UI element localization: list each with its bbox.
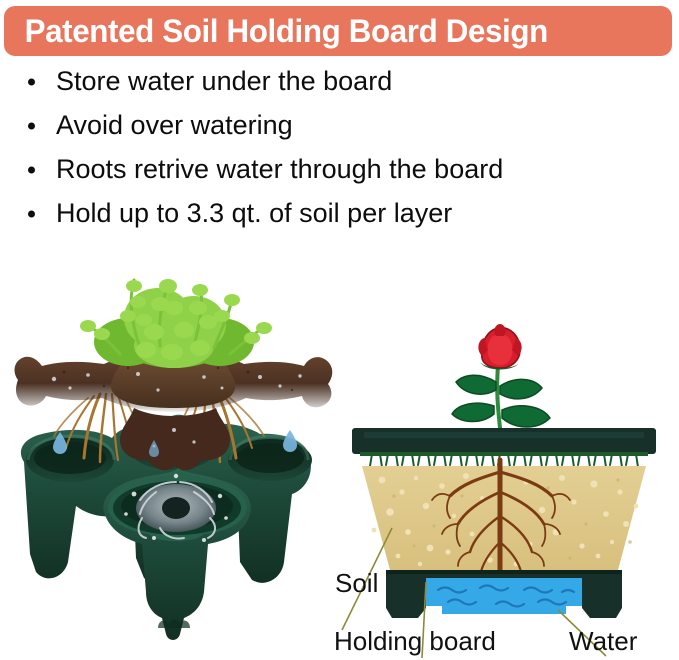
label-water: Water [569, 628, 637, 654]
illustration-row [0, 262, 679, 660]
bullet-dot-icon [28, 78, 35, 85]
infographic-page: Patented Soil Holding Board Design Store… [0, 0, 679, 660]
page-title: Patented Soil Holding Board Design [4, 15, 548, 47]
cross-section-diagram [330, 320, 679, 660]
bullet-dot-icon [28, 210, 35, 217]
list-item: Store water under the board [24, 68, 664, 95]
product-photo-svg [8, 262, 338, 660]
rose-flower-icon [452, 324, 550, 428]
header-banner: Patented Soil Holding Board Design [4, 6, 672, 56]
cross-section-svg [330, 320, 679, 660]
pot-rim [352, 428, 656, 454]
label-holding-board: Holding board [334, 628, 496, 654]
feature-text: Store water under the board [56, 66, 392, 96]
product-photo [8, 262, 338, 660]
list-item: Hold up to 3.3 qt. of soil per layer [24, 200, 664, 227]
plant-foliage [80, 279, 272, 368]
feature-list: Store water under the board Avoid over w… [24, 68, 664, 244]
bullet-dot-icon [28, 122, 35, 129]
holding-board-and-reservoir [386, 570, 622, 618]
grass-fringe [360, 452, 648, 467]
list-item: Roots retrive water through the board [24, 156, 664, 183]
list-item: Avoid over watering [24, 112, 664, 139]
label-soil: Soil [335, 570, 378, 596]
feature-text: Avoid over watering [56, 110, 293, 140]
feature-text: Roots retrive water through the board [56, 154, 503, 184]
bullet-dot-icon [28, 166, 35, 173]
feature-text: Hold up to 3.3 qt. of soil per layer [56, 198, 452, 228]
